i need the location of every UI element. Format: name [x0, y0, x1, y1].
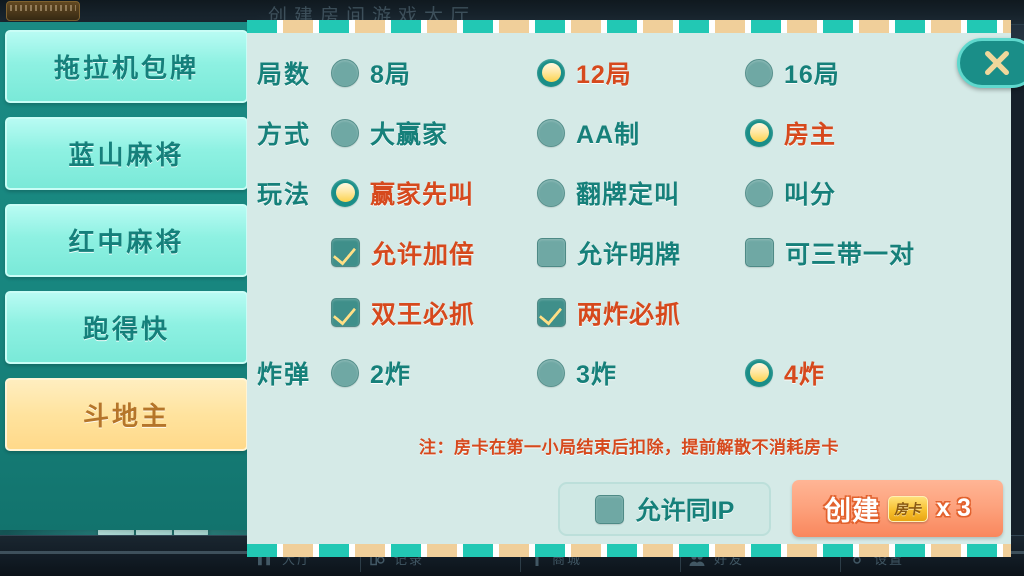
- radio-option-4-bombs[interactable]: 4炸: [745, 355, 825, 391]
- radio-option-label: 3炸: [576, 355, 617, 391]
- settings-row-options-1: 允许加倍 允许明牌 可三带一对: [247, 223, 1011, 282]
- checkbox-indicator: [537, 238, 566, 267]
- sidebar-item-label: 红中麻将: [68, 222, 184, 259]
- radio-option-host[interactable]: 房主: [745, 115, 836, 151]
- settings-row-rounds: 局数 8局 12局 16局: [247, 43, 1011, 102]
- close-icon: [981, 47, 1013, 79]
- radio-indicator: [331, 59, 359, 87]
- row-label: 局数: [257, 55, 311, 91]
- sidebar-item-paodekuai[interactable]: 跑得快: [5, 291, 248, 364]
- room-card-icon-text: 房卡: [894, 499, 923, 519]
- room-settings-dialog: 局数 8局 12局 16局 方式 大赢家: [247, 20, 1011, 557]
- room-card-note: 注：房卡在第一小局结束后扣除，提前解散不消耗房卡: [247, 433, 1011, 458]
- radio-indicator: [745, 179, 773, 207]
- radio-option-label: 赢家先叫: [370, 175, 474, 211]
- radio-indicator: [331, 119, 359, 147]
- room-card-count: x 3: [936, 494, 971, 523]
- checkbox-allow-double[interactable]: 允许加倍: [331, 235, 475, 271]
- checkbox-label: 两炸必抓: [577, 295, 681, 331]
- radio-option-label: 大赢家: [370, 115, 448, 151]
- settings-row-bombs: 炸弹 2炸 3炸 4炸: [247, 343, 1011, 402]
- dialog-top-border: [247, 20, 1011, 33]
- checkbox-must-catch-two-jokers[interactable]: 双王必抓: [331, 295, 475, 331]
- radio-indicator: [537, 119, 565, 147]
- sidebar-item-label: 跑得快: [83, 309, 170, 346]
- checkbox-indicator: [331, 298, 360, 327]
- radio-indicator: [537, 59, 565, 87]
- radio-option-3-bombs[interactable]: 3炸: [537, 355, 617, 391]
- dialog-bottom-border: [247, 544, 1011, 557]
- checkbox-label: 可三带一对: [785, 235, 915, 271]
- radio-option-label: 房主: [784, 115, 836, 151]
- radio-option-label: 16局: [784, 55, 840, 91]
- radio-option-call-score[interactable]: 叫分: [745, 175, 836, 211]
- checkbox-label: 双王必抓: [371, 295, 475, 331]
- checkbox-must-catch-two-bombs[interactable]: 两炸必抓: [537, 295, 681, 331]
- row-label: 玩法: [257, 175, 311, 211]
- radio-option-label: 4炸: [784, 355, 825, 391]
- settings-row-options-2: 双王必抓 两炸必抓: [247, 283, 1011, 342]
- sidebar-item-tuolaji[interactable]: 拖拉机包牌: [5, 30, 248, 103]
- radio-option-2-bombs[interactable]: 2炸: [331, 355, 411, 391]
- sidebar-item-label: 斗地主: [83, 396, 170, 433]
- dialog-body: 局数 8局 12局 16局 方式 大赢家: [247, 33, 1011, 544]
- radio-option-big-winner[interactable]: 大赢家: [331, 115, 448, 151]
- radio-indicator: [331, 179, 359, 207]
- radio-indicator: [745, 359, 773, 387]
- checkbox-allow-open-hand[interactable]: 允许明牌: [537, 235, 681, 271]
- settings-row-gameplay: 玩法 赢家先叫 翻牌定叫 叫分: [247, 163, 1011, 222]
- sidebar-item-lanshan-mahjong[interactable]: 蓝山麻将: [5, 117, 248, 190]
- checkbox-allow-same-ip[interactable]: 允许同IP: [558, 482, 771, 536]
- radio-option-8-rounds[interactable]: 8局: [331, 55, 411, 91]
- top-chip-icon: [6, 1, 80, 21]
- radio-option-winner-calls-first[interactable]: 赢家先叫: [331, 175, 474, 211]
- sidebar-item-hongzhong-mahjong[interactable]: 红中麻将: [5, 204, 248, 277]
- radio-indicator: [537, 179, 565, 207]
- radio-option-12-rounds[interactable]: 12局: [537, 55, 632, 91]
- create-room-button[interactable]: 创建 房卡 x 3: [792, 480, 1003, 537]
- radio-option-flip-card-call[interactable]: 翻牌定叫: [537, 175, 680, 211]
- checkbox-label: 允许明牌: [577, 235, 681, 271]
- radio-option-label: AA制: [576, 115, 640, 151]
- row-label: 炸弹: [257, 355, 311, 391]
- game-screen: 创建房间游戏大厅 大厅 记录 商城 好友 设置 拖拉机包牌 蓝山麻将 红中麻将 …: [0, 0, 1024, 576]
- sidebar-item-label: 拖拉机包牌: [54, 48, 199, 85]
- room-card-icon: 房卡: [888, 496, 928, 522]
- radio-option-label: 8局: [370, 55, 411, 91]
- checkbox-indicator: [595, 495, 624, 524]
- create-button-label: 创建: [824, 489, 880, 528]
- radio-option-label: 叫分: [784, 175, 836, 211]
- radio-indicator: [745, 119, 773, 147]
- radio-option-label: 2炸: [370, 355, 411, 391]
- sidebar-item-doudizhu[interactable]: 斗地主: [5, 378, 248, 451]
- close-button[interactable]: [957, 38, 1024, 88]
- row-label: 方式: [257, 115, 311, 151]
- radio-indicator: [745, 59, 773, 87]
- game-category-sidebar: 拖拉机包牌 蓝山麻将 红中麻将 跑得快 斗地主: [0, 22, 255, 530]
- radio-option-label: 12局: [576, 55, 632, 91]
- sidebar-item-label: 蓝山麻将: [68, 135, 184, 172]
- checkbox-indicator: [745, 238, 774, 267]
- checkbox-indicator: [537, 298, 566, 327]
- radio-option-label: 翻牌定叫: [576, 175, 680, 211]
- checkbox-indicator: [331, 238, 360, 267]
- radio-option-16-rounds[interactable]: 16局: [745, 55, 840, 91]
- checkbox-three-with-pair[interactable]: 可三带一对: [745, 235, 915, 271]
- checkbox-label: 允许同IP: [636, 491, 735, 527]
- checkbox-label: 允许加倍: [371, 235, 475, 271]
- settings-row-payment: 方式 大赢家 AA制 房主: [247, 103, 1011, 162]
- radio-option-aa[interactable]: AA制: [537, 115, 640, 151]
- radio-indicator: [537, 359, 565, 387]
- radio-indicator: [331, 359, 359, 387]
